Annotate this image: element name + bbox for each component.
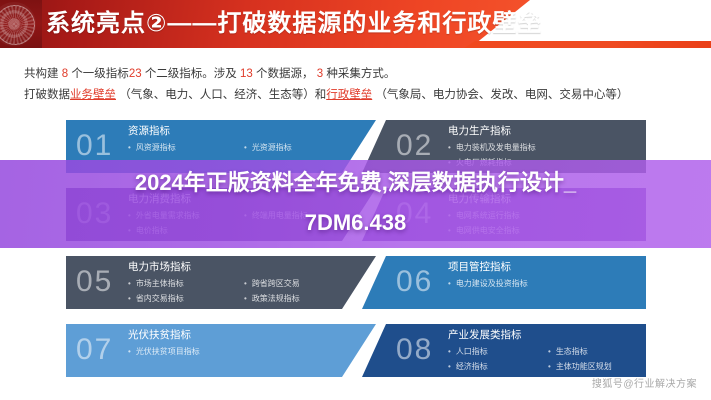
card-title: 项目管控指标 [448,260,511,275]
card-number: 08 [396,333,433,367]
card-number: 06 [396,265,433,299]
slide-canvas: 系统亮点②——打破数据源的业务和行政壁垒 共构建 8 个一级指标23 个二级指标… [0,0,711,400]
card-number: 01 [76,129,113,163]
source-watermark: 搜狐号@行业解决方案 [592,378,697,392]
card-sub-item: 风资源指标 [128,140,244,155]
intro-l2-hl2: 行政壁垒 [326,89,372,101]
card-sub-item: 省内交易指标 [128,291,244,306]
indicator-card-05[interactable]: 05 电力市场指标 市场主体指标 跨省跨区交易 省内交易指标 政策法规指标 [66,256,376,309]
intro-l1-p4: 个数据源， [256,68,314,80]
watermark-overlay-text: 2024年正版资料全年免费,深层数据执行设计_ 7DM6.438 [0,163,711,243]
indicator-card-08[interactable]: 08 产业发展类指标 人口指标 生态指标 经济指标 主体功能区规划 [362,324,646,377]
intro-l1-p5: 种采集方式。 [326,68,395,80]
intro-l1-num3: 13 [240,68,253,80]
card-sub-item: 电力装机及发电量指标 [448,140,646,155]
intro-l1-p1: 共构建 [24,68,59,80]
card-sub-item: 生态指标 [548,344,646,359]
card-sub-item: 政策法规指标 [244,291,360,306]
card-sub-list: 人口指标 生态指标 经济指标 主体功能区规划 [448,344,646,374]
card-title: 电力市场指标 [128,260,191,275]
header-accent-bar [461,41,711,48]
indicator-row: 07 光伏扶贫指标 光伏扶贫项目指标 08 产业发展类指标 人口指标 生态指标 … [66,324,646,377]
card-title: 光伏扶贫指标 [128,328,191,343]
card-number: 05 [76,265,113,299]
card-title: 产业发展类指标 [448,328,522,343]
card-sub-item: 市场主体指标 [128,276,244,291]
indicator-row: 05 电力市场指标 市场主体指标 跨省跨区交易 省内交易指标 政策法规指标 06… [66,256,646,309]
card-sub-list: 电力建设及投资指标 [448,276,646,291]
card-title: 电力生产指标 [448,124,511,139]
card-sub-item: 跨省跨区交易 [244,276,360,291]
card-sub-list: 光伏扶贫项目指标 [128,344,360,359]
card-title: 资源指标 [128,124,170,139]
intro-l2-p1: 打破数据 [24,89,70,101]
intro-l1-num4: 3 [317,68,323,80]
intro-l1-p3: 个二级指标。涉及 [145,68,237,80]
watermark-line-2: 7DM6.438 [0,203,711,243]
card-sub-list: 市场主体指标 跨省跨区交易 省内交易指标 政策法规指标 [128,276,360,306]
intro-line-2: 打破数据业务壁垒 （气象、电力、人口、经济、生态等）和行政壁垒 （气象局、电力协… [24,85,694,106]
card-sub-item: 电力建设及投资指标 [448,276,646,291]
intro-l2-p3: （气象局、电力协会、发改、电网、交易中心等） [375,89,628,101]
intro-l2-hl1: 业务壁垒 [70,89,116,101]
indicator-grid: 01 资源指标 风资源指标 光资源指标 02 电力生产指标 电力装机及发电量指标… [66,120,646,392]
indicator-card-07[interactable]: 07 光伏扶贫指标 光伏扶贫项目指标 [66,324,376,377]
card-sub-item: 人口指标 [448,344,548,359]
card-number: 07 [76,333,113,367]
intro-text: 共构建 8 个一级指标23 个二级指标。涉及 13 个数据源， 3 种采集方式。… [24,64,694,106]
indicator-card-06[interactable]: 06 项目管控指标 电力建设及投资指标 [362,256,646,309]
page-title: 系统亮点②——打破数据源的业务和行政壁垒 [46,7,542,41]
intro-l1-p2: 个一级指标 [71,68,129,80]
header-banner: 系统亮点②——打破数据源的业务和行政壁垒 [0,0,711,48]
card-sub-item: 光资源指标 [244,140,360,155]
card-sub-item: 光伏扶贫项目指标 [128,344,360,359]
card-sub-item: 主体功能区规划 [548,359,646,374]
intro-l1-num1: 8 [62,68,68,80]
card-sub-list: 风资源指标 光资源指标 [128,140,360,155]
watermark-line-1: 2024年正版资料全年免费,深层数据执行设计_ [0,163,711,203]
card-number: 02 [396,129,433,163]
intro-line-1: 共构建 8 个一级指标23 个二级指标。涉及 13 个数据源， 3 种采集方式。 [24,64,694,85]
card-sub-item: 经济指标 [448,359,548,374]
intro-l1-num2: 23 [129,68,142,80]
intro-l2-p2: （气象、电力、人口、经济、生态等）和 [119,89,326,101]
